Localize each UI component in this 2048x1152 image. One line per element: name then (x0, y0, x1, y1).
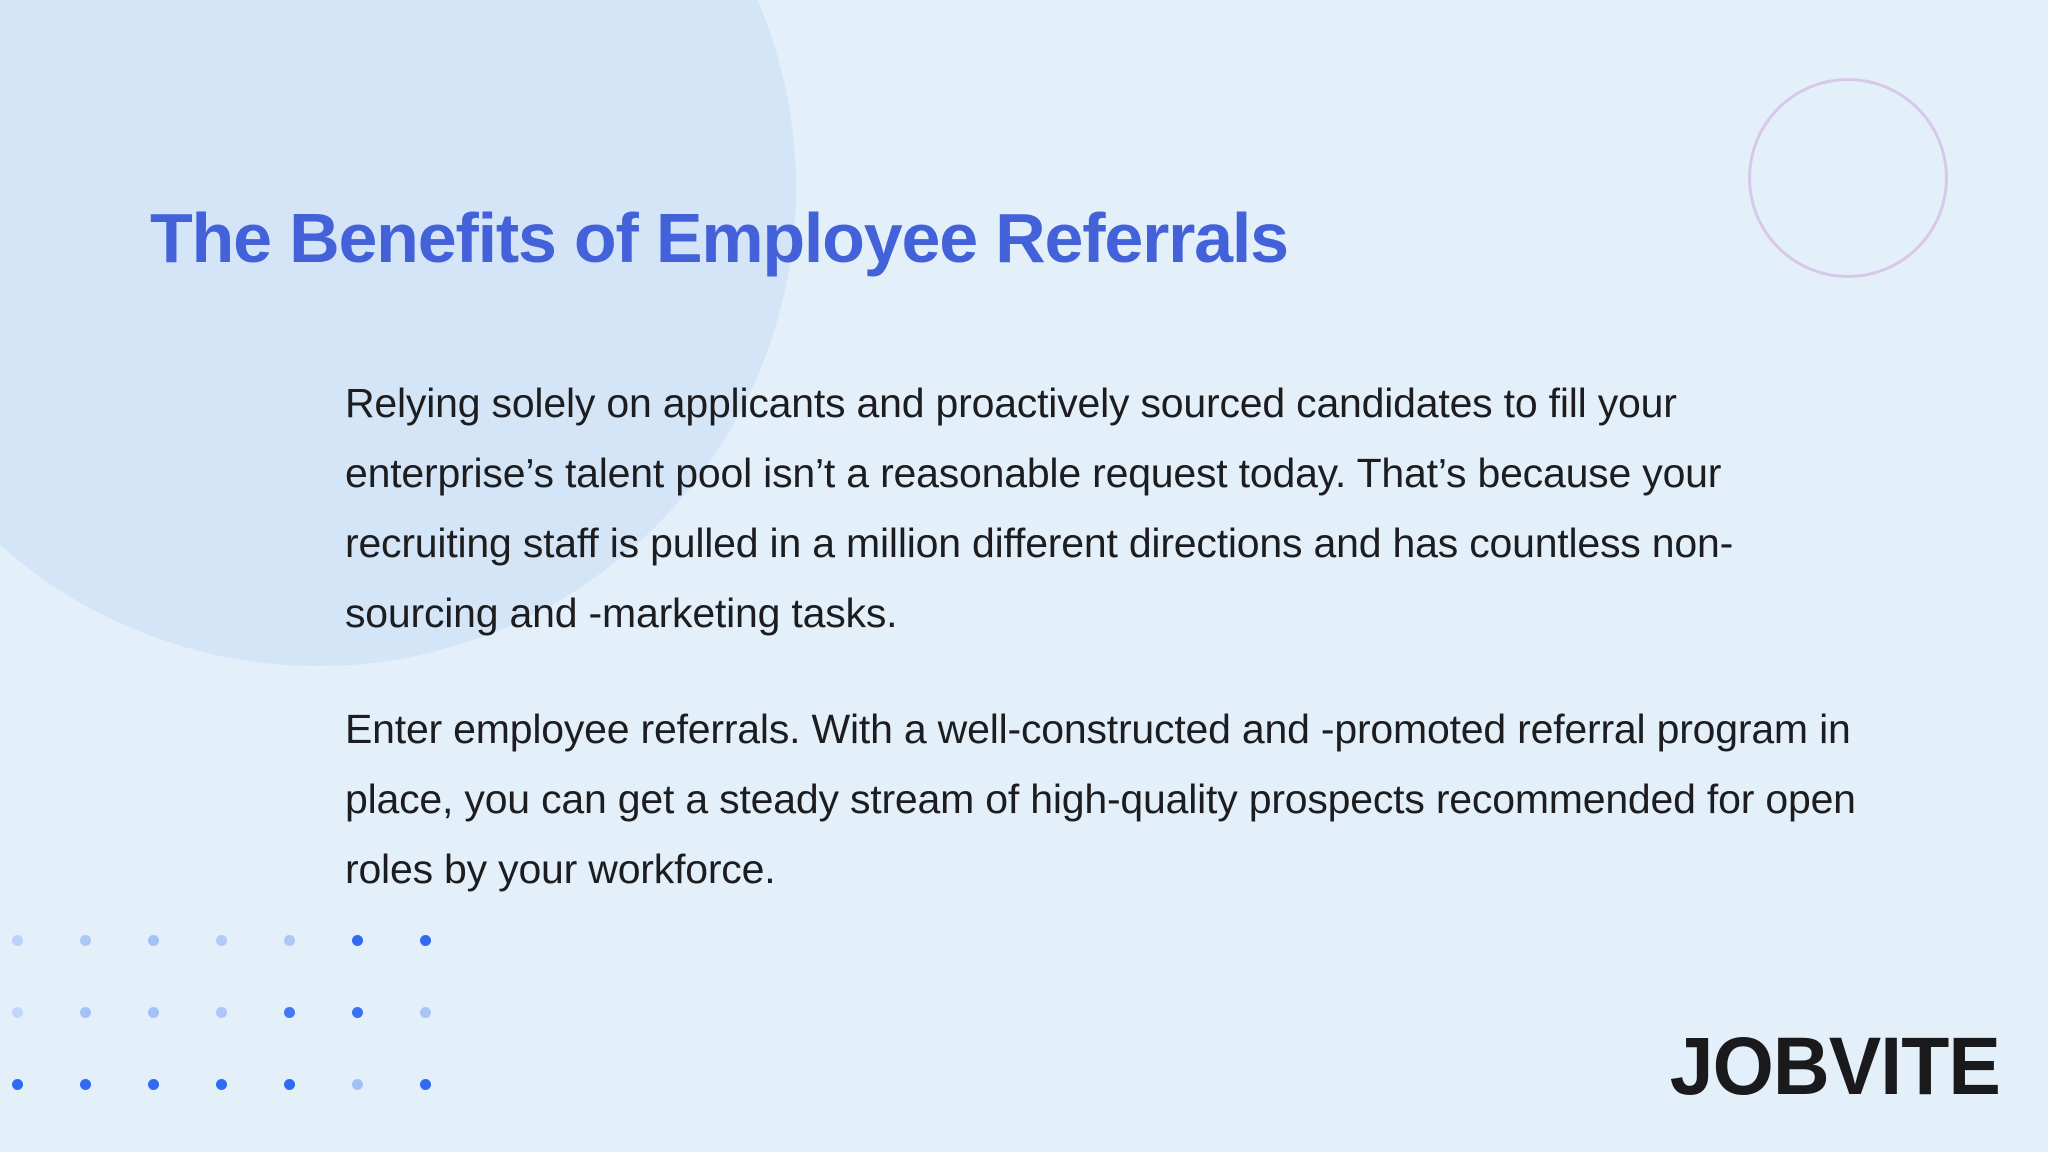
slide-canvas: The Benefits of Employee Referrals Relyi… (0, 0, 2048, 1152)
slide-content: The Benefits of Employee Referrals Relyi… (0, 0, 2048, 1152)
paragraph-2: Enter employee referrals. With a well-co… (345, 694, 1865, 904)
body-copy: Relying solely on applicants and proacti… (345, 368, 1865, 904)
page-title: The Benefits of Employee Referrals (150, 196, 1288, 280)
jobvite-logo: JOBVITE (1670, 1026, 2000, 1108)
paragraph-1: Relying solely on applicants and proacti… (345, 368, 1865, 648)
